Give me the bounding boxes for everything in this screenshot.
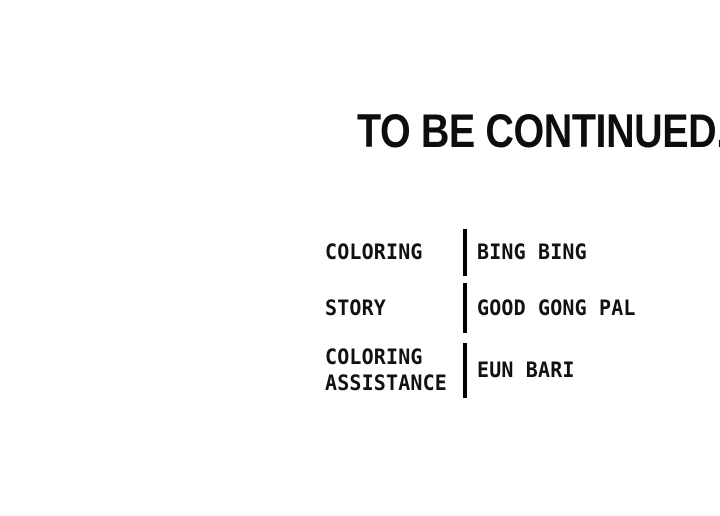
comic-end-card: TO BE CONTINUED... COLORING BING BING ST… bbox=[0, 0, 720, 516]
credit-divider bbox=[463, 229, 467, 276]
credit-name-value: GOOD GONG PAL bbox=[477, 295, 656, 321]
credit-row: COLORING BING BING bbox=[325, 228, 665, 276]
credit-divider bbox=[463, 283, 467, 333]
credit-role-label: STORY bbox=[325, 295, 456, 321]
credit-divider bbox=[463, 343, 467, 398]
credit-row: STORY GOOD GONG PAL bbox=[325, 282, 665, 334]
credits-table: COLORING BING BING STORY GOOD GONG PAL C… bbox=[325, 228, 665, 398]
credit-row: COLORING ASSISTANCE EUN BARI bbox=[325, 342, 665, 398]
credit-name-value: EUN BARI bbox=[477, 357, 656, 383]
credit-role-label: COLORING ASSISTANCE bbox=[325, 344, 456, 396]
credit-role-label: COLORING bbox=[325, 239, 456, 265]
credit-name-value: BING BING bbox=[477, 239, 656, 265]
to-be-continued-title: TO BE CONTINUED... bbox=[357, 107, 720, 154]
